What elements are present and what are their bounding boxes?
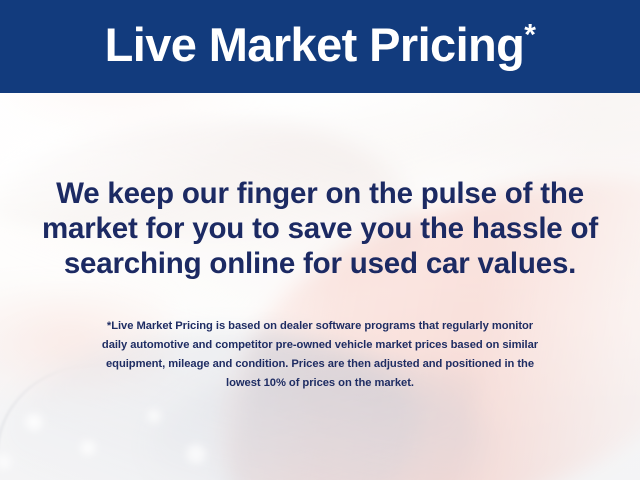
headline: We keep our finger on the pulse of the m… — [0, 176, 640, 281]
banner-title-asterisk: * — [524, 18, 535, 51]
headline-line: searching online for used car values. — [0, 246, 640, 281]
banner-title-text: Live Market Pricing — [105, 18, 525, 71]
banner-title: Live Market Pricing* — [105, 21, 536, 72]
disclaimer-line: daily automotive and competitor pre-owne… — [0, 336, 640, 355]
headline-line: We keep our finger on the pulse of the — [0, 176, 640, 211]
disclaimer-line: equipment, mileage and condition. Prices… — [0, 355, 640, 374]
headline-line: market for you to save you the hassle of — [0, 211, 640, 246]
disclaimer-line: lowest 10% of prices on the market. — [0, 374, 640, 393]
live-market-pricing-promo-card: Live Market Pricing* We keep our finger … — [0, 0, 640, 480]
disclaimer-line: *Live Market Pricing is based on dealer … — [0, 317, 640, 336]
header-banner: Live Market Pricing* — [0, 0, 640, 93]
disclaimer: *Live Market Pricing is based on dealer … — [0, 317, 640, 393]
